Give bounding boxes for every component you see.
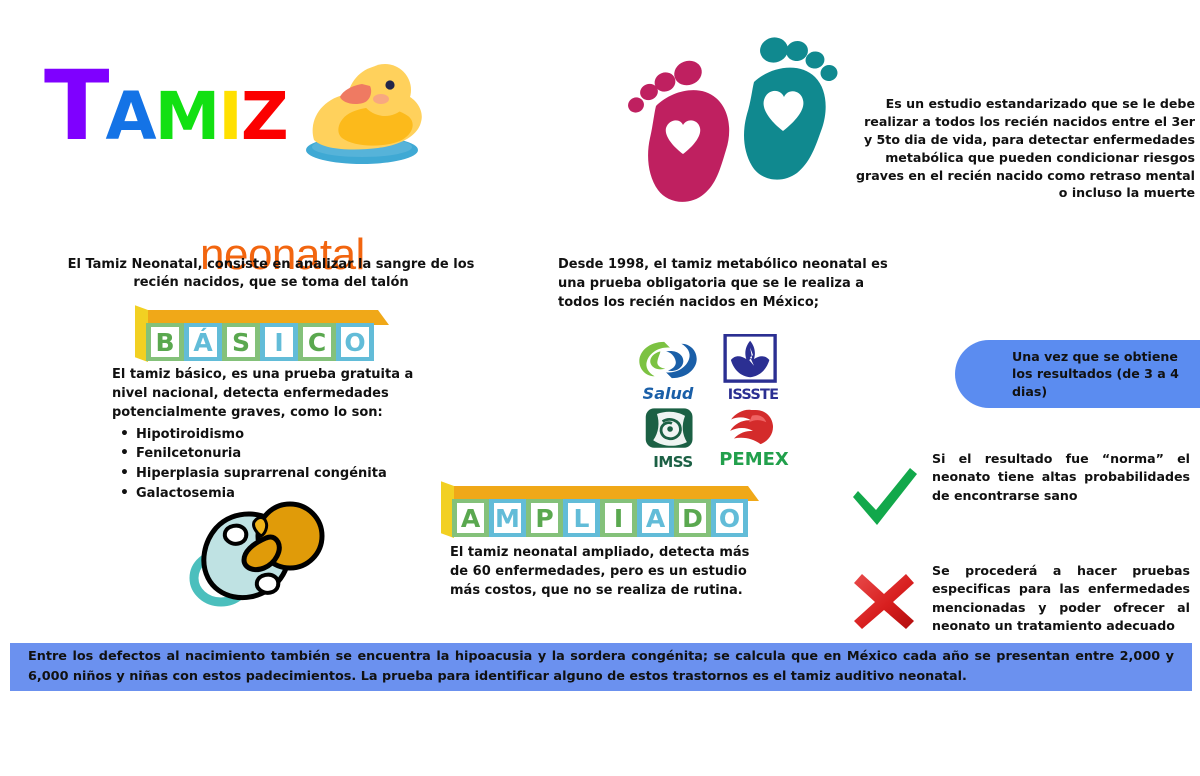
block-letter: O bbox=[711, 499, 748, 537]
rubber-duck-icon bbox=[290, 40, 425, 170]
footer: IPN INSTITUTO POLITÉCNICO NACIONAL Elabo… bbox=[0, 692, 1200, 776]
issste-logo-label: ISSSTE bbox=[718, 388, 788, 403]
title-letter-t: T bbox=[44, 58, 107, 154]
basico-description: El tamiz básico, es una prueba gratuita … bbox=[112, 366, 432, 423]
title-letter-m: M bbox=[155, 84, 219, 150]
bottom-banner: Entre los defectos al nacimiento también… bbox=[10, 641, 1192, 691]
ampliado-description: El tamiz neonatal ampliado, detecta más … bbox=[450, 544, 770, 601]
block-letter: C bbox=[298, 323, 336, 361]
infographic-poster: TAMIZ neonatal bbox=[0, 0, 1200, 776]
block-letter: D bbox=[674, 499, 711, 537]
pemex-logo: PEMEX bbox=[714, 408, 794, 468]
pacifier-icon bbox=[186, 492, 342, 618]
intro-paragraph: Es un estudio estandarizado que se le de… bbox=[855, 95, 1195, 202]
salud-logo: Salud bbox=[630, 338, 706, 400]
block-letter: A bbox=[452, 499, 489, 537]
imss-logo-label: IMSS bbox=[642, 455, 704, 470]
issste-logo: ISSSTE bbox=[718, 334, 788, 404]
results-callout: Una vez que se obtiene los resultados (d… bbox=[955, 340, 1200, 408]
block-letter: B bbox=[146, 323, 184, 361]
block-letter: Á bbox=[184, 323, 222, 361]
pemex-logo-label: PEMEX bbox=[714, 451, 794, 469]
block-letter: S bbox=[222, 323, 260, 361]
title-letter-z: Z bbox=[241, 84, 287, 150]
basico-description-block: El tamiz básico, es una prueba gratuita … bbox=[112, 366, 432, 504]
institution-logos: Salud ISSSTE IMSS bbox=[630, 334, 805, 469]
title-letter-a: A bbox=[105, 84, 154, 150]
block-letter: P bbox=[526, 499, 563, 537]
cross-result-text: Se procederá a hacer pruebas especificas… bbox=[932, 562, 1190, 635]
list-item: Hiperplasia suprarrenal congénita bbox=[112, 464, 432, 484]
results-callout-text: Una vez que se obtiene los resultados (d… bbox=[955, 348, 1200, 400]
red-x-icon bbox=[850, 570, 918, 632]
page-title: TAMIZ bbox=[44, 58, 287, 154]
basico-blocks: B Á S I C O bbox=[146, 310, 378, 362]
salud-logo-label: Salud bbox=[630, 386, 706, 402]
block-letter: L bbox=[563, 499, 600, 537]
bottom-banner-text: Entre los defectos al nacimiento también… bbox=[10, 647, 1192, 687]
ampliado-blocks: A M P L I A D O bbox=[452, 486, 748, 538]
left-intro-paragraph: El Tamiz Neonatal, consiste en analizar … bbox=[62, 256, 480, 293]
block-letter: M bbox=[489, 499, 526, 537]
center-intro-paragraph: Desde 1998, el tamiz metabólico neonatal… bbox=[558, 256, 888, 313]
block-letter: I bbox=[260, 323, 298, 361]
baby-footprints-icon bbox=[608, 28, 843, 228]
block-letter: A bbox=[637, 499, 674, 537]
block-letter: I bbox=[600, 499, 637, 537]
list-item: Hipotiroidismo bbox=[112, 425, 432, 445]
list-item: Fenilcetonuria bbox=[112, 444, 432, 464]
check-result-text: Si el resultado fue “norma” el neonato t… bbox=[932, 450, 1190, 505]
title-letter-i: I bbox=[218, 84, 241, 150]
block-letter: O bbox=[336, 323, 374, 361]
imss-logo: IMSS bbox=[642, 408, 704, 468]
green-check-icon bbox=[848, 466, 920, 528]
